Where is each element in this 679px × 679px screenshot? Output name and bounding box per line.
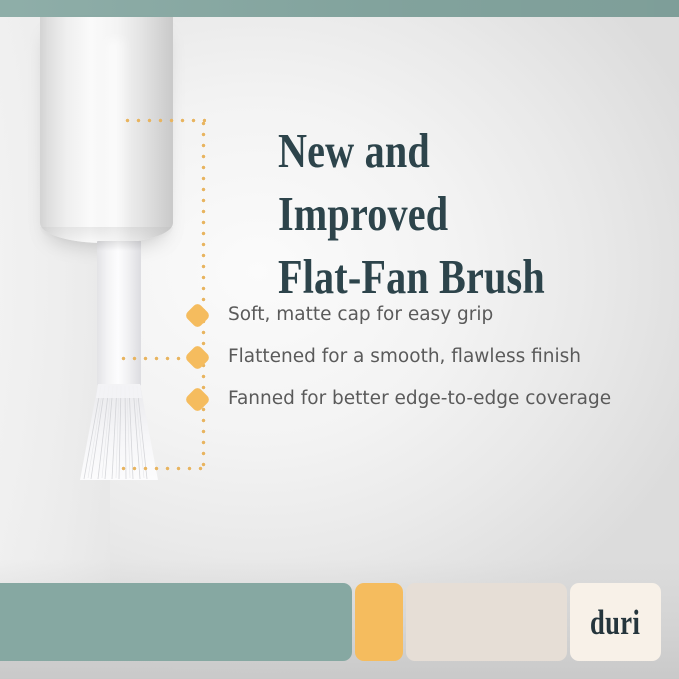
brand-logo: duri [590, 605, 640, 640]
leader-line-top-horizontal [122, 118, 206, 123]
diamond-bullet-icon [184, 302, 211, 329]
feature-text: Fanned for better edge-to-edge coverage [228, 384, 611, 414]
top-bar-shading [0, 0, 679, 17]
sage-segment [0, 583, 352, 661]
list-item: Fanned for better edge-to-edge coverage [188, 384, 658, 426]
list-item: Soft, matte cap for easy grip [188, 300, 658, 342]
promo-image: New and Improved Flat-Fan Brush Soft, ma… [0, 0, 679, 679]
brush-stem-shadow [97, 241, 141, 251]
feature-text: Flattened for a smooth, flawless finish [228, 342, 581, 372]
feature-list: Soft, matte cap for easy grip Flattened … [188, 300, 658, 426]
footer-color-bar: duri [0, 583, 679, 661]
top-accent-bar [0, 0, 679, 17]
leader-line-bottom-horizontal [118, 466, 204, 471]
page-title: New and Improved Flat-Fan Brush [278, 119, 599, 308]
cream-segment [406, 583, 567, 661]
logo-segment: duri [570, 583, 661, 661]
cap-gloss-highlight [102, 39, 128, 239]
diamond-bullet-icon [184, 344, 211, 371]
list-item: Flattened for a smooth, flawless finish [188, 342, 658, 384]
brush-stem [97, 241, 141, 386]
diamond-bullet-icon [184, 386, 211, 413]
headline-line-2: Flat-Fan Brush [278, 245, 599, 308]
nail-polish-cap [40, 17, 173, 243]
headline-line-1: New and Improved [278, 123, 448, 241]
amber-segment [355, 583, 403, 661]
feature-text: Soft, matte cap for easy grip [228, 300, 493, 330]
